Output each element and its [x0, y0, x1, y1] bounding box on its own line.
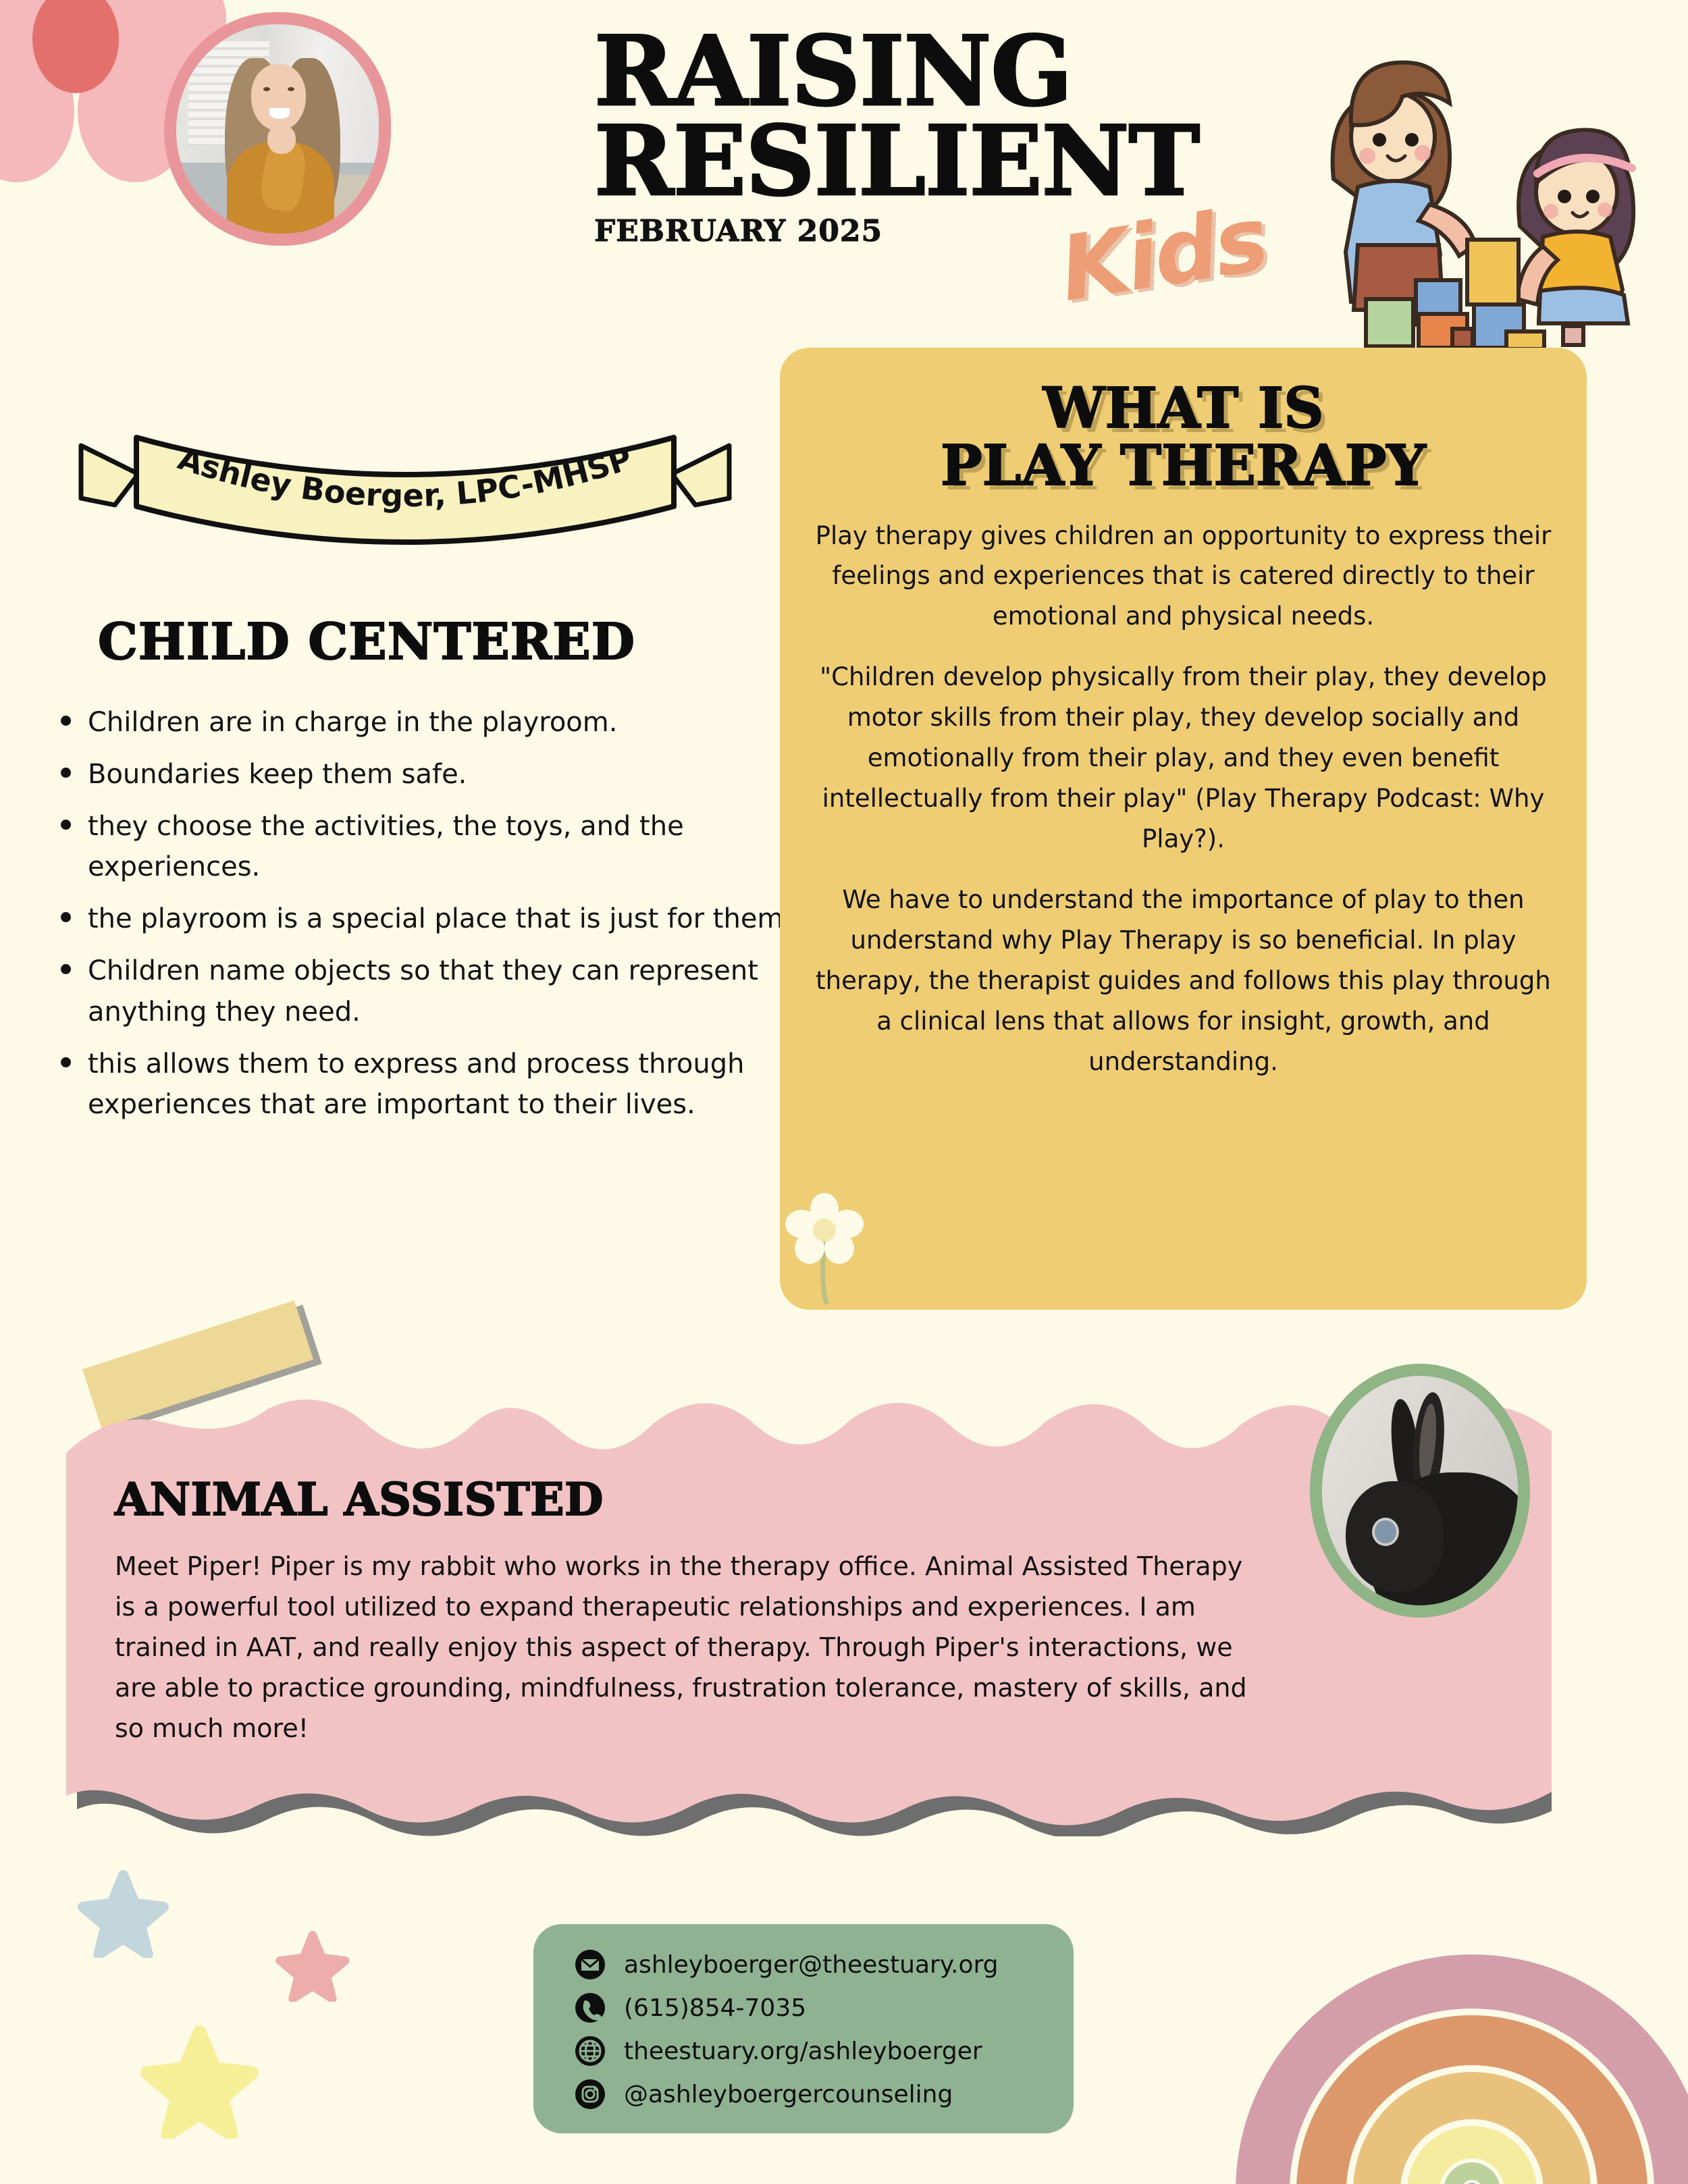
title-line-1: RAISING	[594, 27, 1323, 117]
play-therapy-panel: WHAT IS PLAY THERAPY Play therapy gives …	[780, 348, 1587, 1310]
list-item: Children name objects so that they can r…	[88, 951, 800, 1033]
play-therapy-paragraph: We have to understand the importance of …	[811, 880, 1556, 1082]
contact-instagram: @ashleyboergercounseling	[624, 2081, 953, 2108]
star-decoration	[78, 1870, 169, 1958]
envelope-icon	[573, 1947, 608, 1982]
contact-email: ashleyboerger@theestuary.org	[624, 1951, 999, 1979]
contact-row-instagram[interactable]: @ashleyboergercounseling	[573, 2077, 1074, 2112]
child-centered-heading: CHILD CENTERED	[98, 613, 635, 671]
author-banner: Ashley Boerger, LPC-MHSP	[74, 425, 736, 554]
play-therapy-heading: WHAT IS PLAY THERAPY	[780, 348, 1587, 496]
star-decoration	[275, 1931, 350, 2002]
list-item: the playroom is a special place that is …	[88, 899, 800, 940]
daisy-flower-icon	[785, 1192, 873, 1306]
play-therapy-paragraph: "Children develop physically from their …	[811, 657, 1556, 859]
list-item: they choose the activities, the toys, an…	[88, 806, 800, 888]
play-therapy-heading-line-2: PLAY THERAPY	[941, 433, 1426, 498]
child-centered-bullet-list: Children are in charge in the playroom. …	[46, 702, 800, 1136]
contact-row-website[interactable]: theestuary.org/ashleyboerger	[573, 2033, 1074, 2069]
contact-website: theestuary.org/ashleyboerger	[624, 2037, 982, 2065]
list-item: Children are in charge in the playroom.	[88, 702, 800, 743]
phone-icon	[573, 1990, 608, 2025]
rabbit-photo	[1310, 1364, 1530, 1618]
children-playing-blocks-illustration	[1293, 24, 1685, 348]
play-therapy-heading-line-1: WHAT IS	[1043, 376, 1324, 441]
animal-assisted-body: Meet Piper! Piper is my rabbit who works…	[115, 1546, 1249, 1749]
newsletter-page: RAISING RESILIENT FEBRUARY 2025 Kids	[0, 0, 1688, 2184]
play-therapy-paragraph: Play therapy gives children an opportuni…	[811, 516, 1556, 637]
animal-assisted-heading: ANIMAL ASSISTED	[115, 1473, 604, 1526]
globe-icon	[573, 2033, 608, 2069]
contact-box: ashleyboerger@theestuary.org (615)854-70…	[533, 1924, 1074, 2133]
list-item: this allows them to express and process …	[88, 1044, 800, 1126]
contact-row-email[interactable]: ashleyboerger@theestuary.org	[573, 1947, 1074, 1982]
instagram-icon	[573, 2077, 608, 2112]
star-decoration	[140, 2025, 259, 2139]
rainbow-decoration	[1215, 1853, 1688, 2184]
contact-row-phone[interactable]: (615)854-7035	[573, 1990, 1074, 2025]
author-portrait	[164, 12, 391, 246]
list-item: Boundaries keep them safe.	[88, 754, 800, 795]
contact-phone: (615)854-7035	[624, 1994, 806, 2022]
